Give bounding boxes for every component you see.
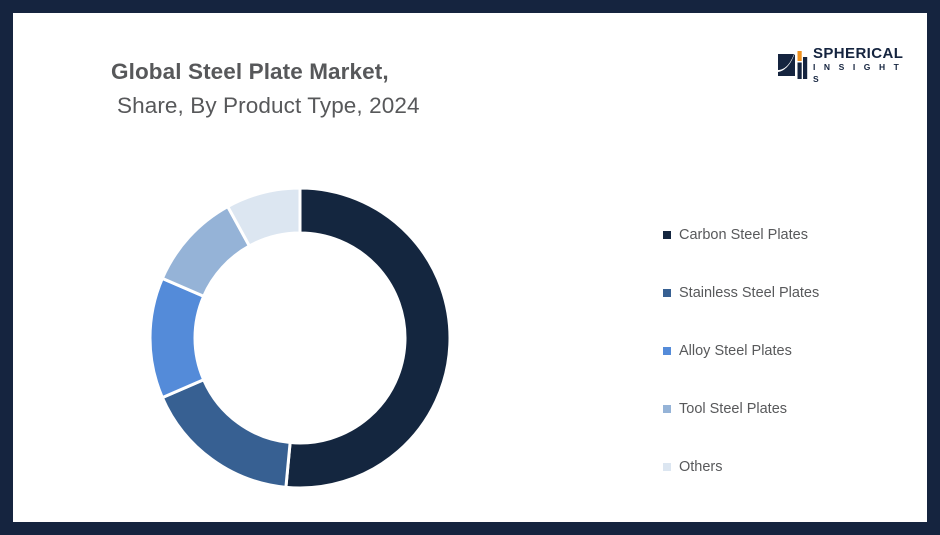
donut-segment[interactable]: [286, 188, 450, 488]
legend-swatch-icon: [663, 289, 671, 297]
legend-item-label: Others: [679, 459, 723, 475]
legend-item[interactable]: Tool Steel Plates: [663, 380, 903, 438]
logo-wordmark: SPHERICAL I N S I G H T S: [813, 46, 903, 85]
title-primary: Global Steel Plate Market,: [111, 55, 541, 89]
legend-swatch-icon: [663, 347, 671, 355]
chart-legend: Carbon Steel PlatesStainless Steel Plate…: [663, 206, 903, 496]
legend-swatch-icon: [663, 405, 671, 413]
legend-swatch-icon: [663, 463, 671, 471]
logo-name-bottom: I N S I G H T S: [813, 61, 903, 85]
logo-mark-icon: [778, 51, 808, 79]
legend-swatch-icon: [663, 231, 671, 239]
spherical-insights-logo: SPHERICAL I N S I G H T S: [778, 48, 878, 82]
legend-item[interactable]: Alloy Steel Plates: [663, 322, 903, 380]
legend-item-label: Carbon Steel Plates: [679, 227, 808, 243]
page-title: Global Steel Plate Market, Share, By Pro…: [111, 55, 541, 123]
legend-item[interactable]: Stainless Steel Plates: [663, 264, 903, 322]
title-secondary: Share, By Product Type, 2024: [111, 89, 541, 123]
legend-item-label: Stainless Steel Plates: [679, 285, 819, 301]
legend-item[interactable]: Carbon Steel Plates: [663, 206, 903, 264]
legend-item[interactable]: Others: [663, 438, 903, 496]
legend-item-label: Alloy Steel Plates: [679, 343, 792, 359]
donut-segment[interactable]: [162, 380, 290, 488]
chart-canvas: Global Steel Plate Market, Share, By Pro…: [13, 13, 927, 522]
logo-name-top: SPHERICAL: [813, 46, 903, 61]
legend-item-label: Tool Steel Plates: [679, 401, 787, 417]
chart-page: Global Steel Plate Market, Share, By Pro…: [0, 0, 940, 535]
donut-chart: [143, 181, 457, 495]
donut-segment[interactable]: [150, 278, 204, 397]
